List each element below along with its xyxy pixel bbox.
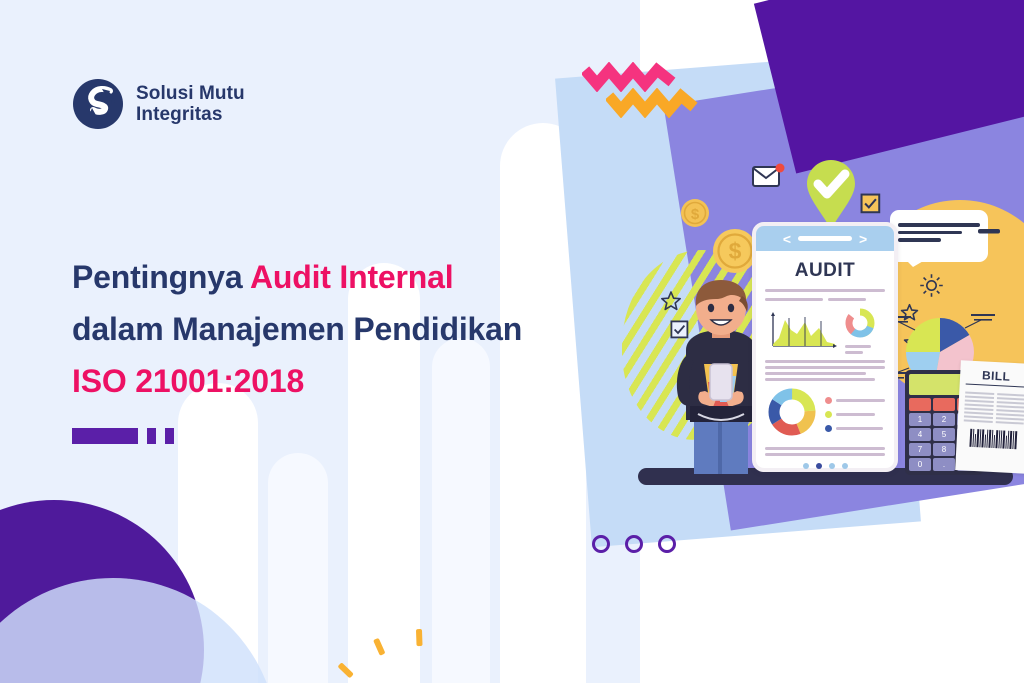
calc-key[interactable] bbox=[909, 398, 931, 411]
legend-swatch bbox=[825, 397, 832, 404]
checkbox-icon bbox=[860, 193, 881, 219]
brand-logo[interactable]: Solusi Mutu Integritas bbox=[72, 78, 245, 130]
doc-text-line bbox=[765, 372, 866, 375]
hero-illustration: $ $ bbox=[560, 0, 1024, 683]
doc-text-line bbox=[836, 399, 885, 402]
speech-bubble-icon bbox=[890, 210, 988, 262]
document-browser-bar: < > bbox=[756, 226, 894, 251]
card-ring-dots bbox=[592, 535, 676, 553]
calc-key-dot[interactable]: . bbox=[933, 458, 955, 471]
doc-text-line bbox=[765, 378, 875, 381]
bill-title: BILL bbox=[966, 367, 1024, 387]
legend-swatch bbox=[825, 411, 832, 418]
document-small-donut bbox=[845, 304, 875, 357]
audit-document[interactable]: < > AUDIT bbox=[752, 222, 898, 472]
swirl-circle-logo-icon bbox=[72, 78, 124, 130]
pagination-dot[interactable] bbox=[803, 463, 809, 469]
document-area-chart bbox=[765, 308, 839, 350]
pagination-dot[interactable] bbox=[842, 463, 848, 469]
underline-dot bbox=[165, 428, 174, 444]
headline-line1-accent: Audit Internal bbox=[250, 259, 453, 295]
calc-key-1[interactable]: 1 bbox=[909, 413, 931, 426]
document-nav-prev[interactable]: < bbox=[783, 231, 791, 247]
headline-underline-marks bbox=[72, 428, 174, 444]
svg-text:$: $ bbox=[691, 206, 700, 223]
speech-bubble-dash bbox=[978, 222, 1000, 240]
barcode-icon bbox=[962, 428, 1023, 449]
doc-text-line bbox=[836, 427, 883, 430]
poster-canvas: Solusi Mutu Integritas Pentingnya Audit … bbox=[0, 0, 1024, 683]
document-pagination-dots[interactable] bbox=[765, 463, 885, 469]
bill-text-lines bbox=[964, 389, 1024, 426]
brand-name-line2: Integritas bbox=[136, 104, 223, 125]
brand-name-line1: Solusi Mutu bbox=[136, 83, 245, 104]
dollar-coin-icon: $ bbox=[680, 198, 710, 233]
calc-key-2[interactable]: 2 bbox=[933, 413, 955, 426]
bg-bar bbox=[268, 453, 328, 683]
pagination-dot-active[interactable] bbox=[816, 463, 822, 469]
brand-logo-text: Solusi Mutu Integritas bbox=[136, 83, 245, 126]
document-main-donut bbox=[765, 385, 819, 444]
calc-key-8[interactable]: 8 bbox=[933, 443, 955, 456]
doc-text-line bbox=[765, 447, 885, 450]
headline-line-2: dalam Manajemen Pendidikan bbox=[72, 304, 612, 356]
headline-line-1: Pentingnya Audit Internal bbox=[72, 252, 612, 304]
document-donut-legend bbox=[825, 396, 885, 433]
document-address-pill bbox=[798, 236, 852, 241]
underline-bar bbox=[72, 428, 138, 444]
svg-text:$: $ bbox=[729, 238, 742, 264]
envelope-icon bbox=[752, 163, 786, 194]
underline-dot bbox=[147, 428, 156, 444]
document-nav-next[interactable]: > bbox=[859, 231, 867, 247]
doc-text-line bbox=[765, 453, 885, 456]
doc-text-line bbox=[765, 366, 885, 369]
doc-text-line bbox=[845, 345, 871, 348]
calc-key[interactable] bbox=[933, 398, 955, 411]
doc-text-line bbox=[765, 360, 885, 363]
headline-line-3: ISO 21001:2018 bbox=[72, 356, 612, 408]
zigzag-orange-icon bbox=[606, 88, 698, 118]
document-title: AUDIT bbox=[765, 260, 885, 282]
doc-text-line bbox=[828, 298, 866, 301]
bill-receipt: BILL bbox=[955, 360, 1024, 474]
headline-line1-plain: Pentingnya bbox=[72, 259, 250, 295]
legend-swatch bbox=[825, 425, 832, 432]
calc-key-7[interactable]: 7 bbox=[909, 443, 931, 456]
calc-key-4[interactable]: 4 bbox=[909, 428, 931, 441]
sunburst-decoration bbox=[345, 612, 495, 683]
pagination-dot[interactable] bbox=[829, 463, 835, 469]
doc-text-line bbox=[836, 413, 875, 416]
document-body: AUDIT bbox=[756, 251, 894, 468]
ring-dot bbox=[592, 535, 610, 553]
doc-text-line bbox=[765, 289, 885, 292]
ring-dot bbox=[625, 535, 643, 553]
doc-text-line bbox=[765, 298, 823, 301]
doc-text-line bbox=[845, 351, 863, 354]
calc-key-5[interactable]: 5 bbox=[933, 428, 955, 441]
ring-dot bbox=[658, 535, 676, 553]
calc-key-0[interactable]: 0 bbox=[909, 458, 931, 471]
page-title: Pentingnya Audit Internal dalam Manajeme… bbox=[72, 252, 612, 407]
